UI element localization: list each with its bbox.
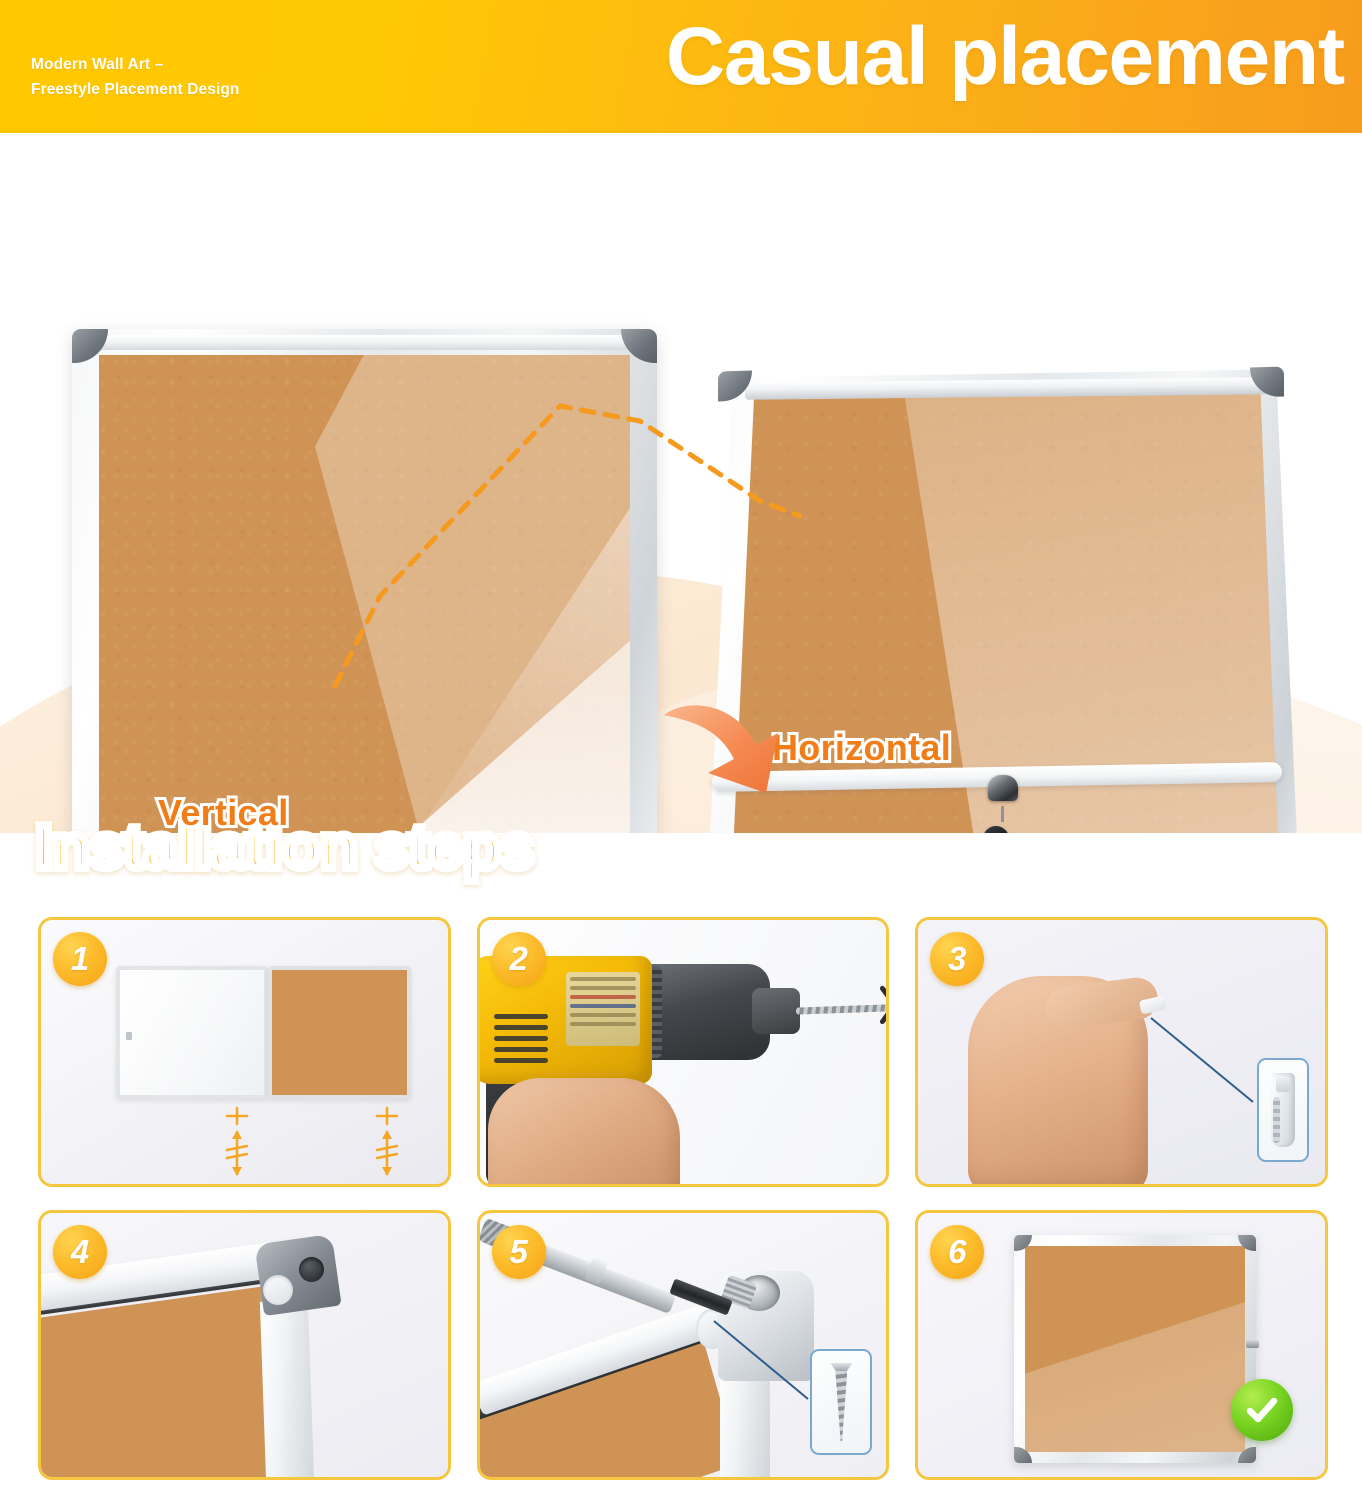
- step-badge-1: 1: [53, 932, 107, 986]
- installation-steps-grid: 1: [38, 917, 1328, 1480]
- header-subtitle-line-1: Modern Wall Art –: [31, 52, 240, 77]
- page-title: Casual placement: [666, 5, 1344, 110]
- check-icon: [1243, 1391, 1281, 1429]
- mounted-board-glass-reflection: [1025, 1246, 1245, 1452]
- curved-arrow-icon: [660, 693, 800, 813]
- hero-section: Vertical Horizontal: [0, 133, 1362, 833]
- page-header: Modern Wall Art – Freestyle Placement De…: [0, 0, 1362, 133]
- corner-bracket: [254, 1234, 341, 1316]
- wall-anchor-icon: [1271, 1073, 1295, 1147]
- corner-pivot-disc: [263, 1275, 293, 1305]
- lock-cylinder-icon: [988, 775, 1018, 801]
- header-subtitle: Modern Wall Art – Freestyle Placement De…: [31, 52, 240, 102]
- step-badge-4: 4: [53, 1225, 107, 1279]
- step-badge-2: 2: [492, 932, 546, 986]
- step-panel-3[interactable]: 3: [915, 917, 1328, 1187]
- step-panel-2[interactable]: 2: [477, 917, 890, 1187]
- mounted-board: [1014, 1235, 1256, 1463]
- success-check-badge: [1231, 1379, 1293, 1441]
- step-badge-6: 6: [930, 1225, 984, 1279]
- step-panel-1[interactable]: 1: [38, 917, 451, 1187]
- whiteboard-illustration: [116, 966, 268, 1099]
- mounting-hole-icon: [299, 1257, 324, 1282]
- measurement-marker-right-icon: [367, 1106, 407, 1178]
- step-badge-3: 3: [930, 932, 984, 986]
- corkboard-illustration: [268, 966, 411, 1099]
- hand-holding-drill: [488, 1078, 680, 1187]
- drill-spec-label: [566, 972, 640, 1046]
- lock-pin: [1001, 806, 1004, 822]
- vertical-board-cork-surface: [99, 355, 630, 833]
- vertical-board: Vertical: [72, 329, 657, 833]
- vertical-board-label: Vertical: [158, 792, 289, 833]
- screw-callout-leader-line: [712, 1319, 812, 1403]
- step-badge-5: 5: [492, 1225, 546, 1279]
- step-panel-4[interactable]: 4: [38, 1210, 451, 1480]
- corner-cork-surface: [38, 1285, 294, 1480]
- mounted-board-cork: [1025, 1246, 1245, 1452]
- screw-callout: [810, 1349, 872, 1455]
- vertical-board-frame: [72, 329, 657, 833]
- frame-top-rail: [88, 335, 641, 350]
- measurement-marker-left-icon: [217, 1106, 257, 1178]
- callout-leader-line: [1149, 1016, 1257, 1106]
- drill-vents: [494, 1014, 548, 1076]
- step-panel-6[interactable]: 6: [915, 1210, 1328, 1480]
- wall-anchor-callout: [1257, 1058, 1309, 1162]
- corner-side-post: [260, 1300, 314, 1480]
- header-subtitle-line-2: Freestyle Placement Design: [31, 77, 240, 102]
- mounted-board-lock-icon: [1246, 1340, 1259, 1348]
- drill-bit-tip-icon: [872, 982, 890, 1028]
- screw-icon: [830, 1363, 852, 1441]
- drill-chuck: [752, 988, 800, 1034]
- step-panel-5[interactable]: 5: [477, 1210, 890, 1480]
